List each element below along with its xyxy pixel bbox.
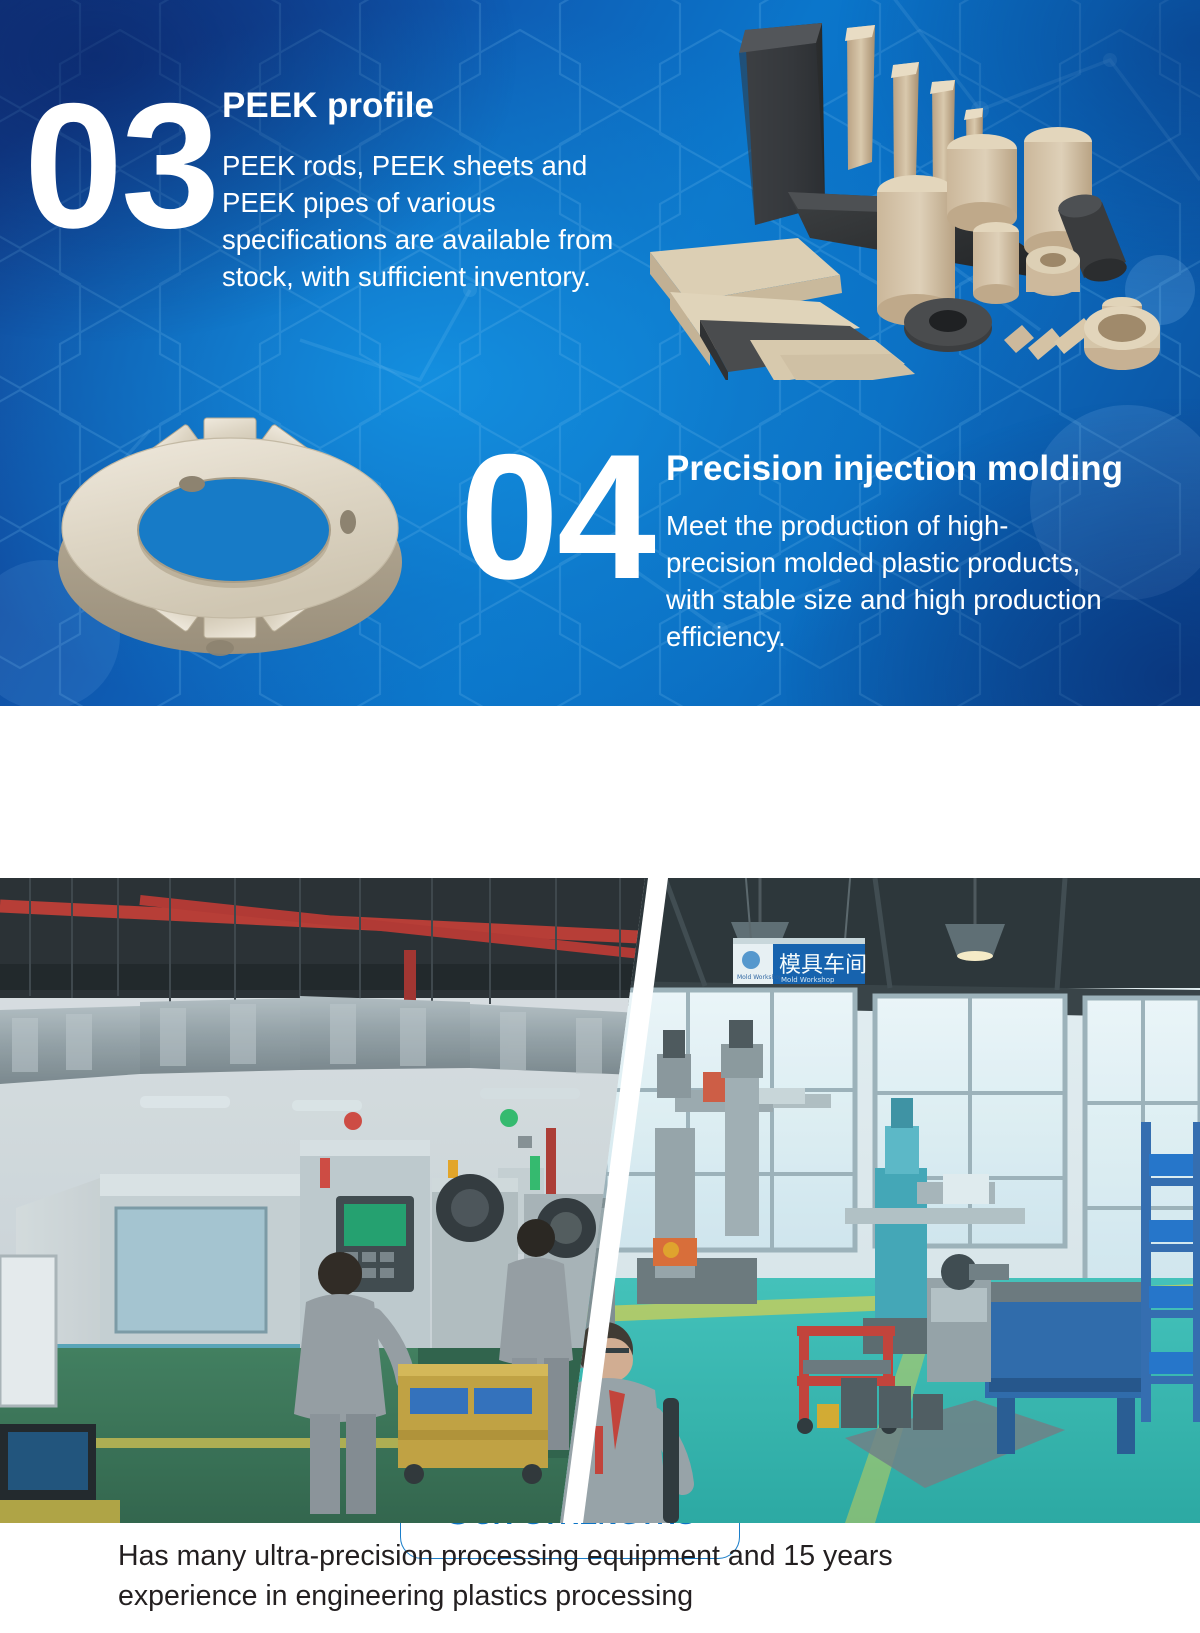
hero-blue-panel: 03 PEEK profile PEEK rods, PEEK sheets a… [0, 0, 1200, 706]
block-title-precision-injection-molding: Precision injection molding [666, 450, 1123, 489]
block-number-03: 03 [24, 84, 218, 248]
block-number-04: 04 [460, 435, 654, 599]
product-feature-page: 03 PEEK profile PEEK rods, PEEK sheets a… [0, 0, 1200, 1633]
gallery-caption-line-1: Has many ultra-precision processing equi… [118, 1536, 1118, 1576]
factory-photo-gallery: Mold Workshop 模具车间 Mold Workshop [0, 878, 1200, 1523]
mold-workshop-photo: Mold Workshop 模具车间 Mold Workshop [545, 878, 1200, 1523]
peek-gear-ring-photo [30, 398, 430, 670]
block-body-peek-profile: PEEK rods, PEEK sheets and PEEK pipes of… [222, 148, 652, 295]
block-body-precision-injection-molding: Meet the production of high-precision mo… [666, 508, 1106, 655]
our-strengths-band: Our strengths [0, 706, 1200, 878]
cnc-workshop-photo [0, 878, 660, 1523]
gallery-caption-line-2: experience in engineering plastics proce… [118, 1576, 1118, 1616]
block-title-peek-profile: PEEK profile [222, 87, 434, 126]
peek-profiles-photo [610, 10, 1200, 380]
gallery-caption: Has many ultra-precision processing equi… [118, 1536, 1118, 1617]
